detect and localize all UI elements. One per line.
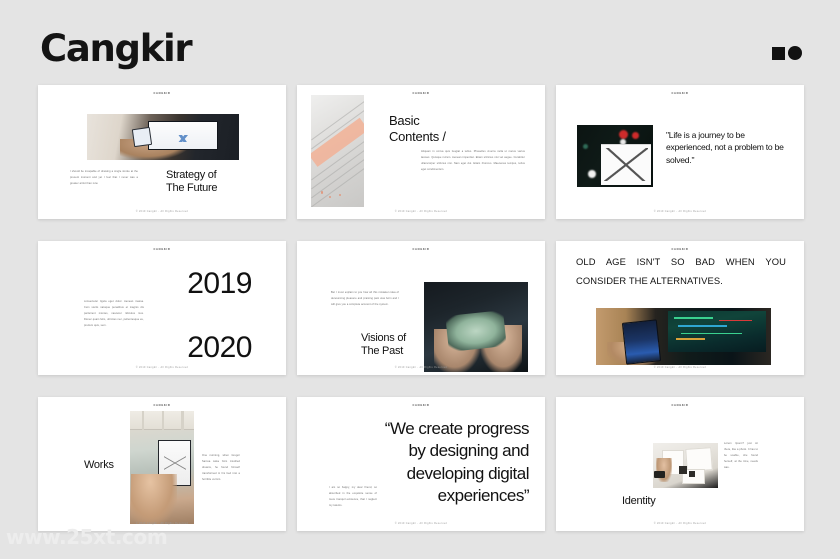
slide-title: Basic Contents /	[389, 113, 529, 145]
slide-title: Works	[84, 459, 114, 472]
slide-header-label: CANGKIR	[297, 405, 545, 408]
slide-thumbnail-identity[interactable]: CANGKIR Lorem Ipsum? just sit there, lik…	[556, 397, 804, 531]
slide-title: Visions of The Past	[361, 332, 461, 359]
slide-title: “We create progress by designing and dev…	[369, 418, 529, 508]
slide-header-label: CANGKIR	[556, 249, 804, 252]
slide-header-label: CANGKIR	[556, 93, 804, 96]
slide-body-text: Aliquam in conva quis feugiat a tellus. …	[421, 149, 525, 173]
slide-header-label: CANGKIR	[38, 249, 286, 252]
square-icon	[772, 47, 785, 60]
slide-thumbnail-visions-of-the-past[interactable]: CANGKIR But I must explain to you how al…	[297, 241, 545, 375]
slide-footer-label: © 2019 Cangkir - All Rights Reserved	[556, 367, 804, 369]
slide-body-text: I am so happy, my dear friend, so absorb…	[329, 485, 377, 509]
slide-footer-label: © 2019 Cangkir - All Rights Reserved	[556, 523, 804, 525]
magazine-spread-hands-photo	[653, 443, 718, 488]
brand-logo	[772, 46, 802, 60]
dark-chart-monitor-photo	[577, 125, 653, 187]
slide-thumbnail-basic-contents[interactable]: CANGKIR Basic Contents / Aliquam in conv…	[297, 85, 545, 219]
slide-footer-label: © 2019 Cangkir - All Rights Reserved	[297, 523, 545, 525]
slide-title: OLD AGE ISN'T SO BAD WHEN YOU CONSIDER T…	[576, 253, 786, 291]
circle-icon	[788, 46, 802, 60]
slide-thumbnail-we-create-progress[interactable]: CANGKIR “We create progress by designing…	[297, 397, 545, 531]
slide-year-first: 2019	[187, 267, 252, 301]
slide-thumbnail-years[interactable]: CANGKIR 2019 2020 consectetur ligula ege…	[38, 241, 286, 375]
slide-body-text: I should be incapable of drawing a singl…	[70, 169, 138, 187]
slide-body-text: But I must explain to you how all this m…	[331, 290, 399, 308]
page-title: Cangkir	[40, 27, 191, 70]
presentation-preview-page: Cangkir CANGKIR I should be incapable of…	[0, 0, 840, 559]
slide-title: "Life is a journey to be experienced, no…	[666, 129, 786, 166]
site-watermark: www.25xt.com	[6, 525, 167, 549]
page-header: Cangkir	[0, 0, 840, 85]
slide-thumbnail-works[interactable]: CANGKIR Works One morning, when Gregor S…	[38, 397, 286, 531]
slide-thumbnail-strategy-of-the-future[interactable]: CANGKIR I should be incapable of drawing…	[38, 85, 286, 219]
slide-footer-label: © 2019 Cangkir - All Rights Reserved	[556, 211, 804, 213]
slide-grid: CANGKIR I should be incapable of drawing…	[38, 85, 803, 531]
slide-footer-label: © 2019 Cangkir - All Rights Reserved	[38, 211, 286, 213]
slide-thumbnail-old-age[interactable]: CANGKIR OLD AGE ISN'T SO BAD WHEN YOU CO…	[556, 241, 804, 375]
slide-year-second: 2020	[187, 331, 252, 365]
slide-body-text: Lorem Ipsum? just sit there, like a phot…	[724, 441, 758, 470]
slide-header-label: CANGKIR	[556, 405, 804, 408]
slide-footer-label: © 2019 Cangkir - All Rights Reserved	[297, 367, 545, 369]
slide-title: Strategy of The Future	[166, 169, 266, 196]
slide-footer-label: © 2019 Cangkir - All Rights Reserved	[297, 211, 545, 213]
slide-title: Identity	[622, 495, 655, 508]
slide-body-text: consectetur ligula eget dolor. Aenean ma…	[84, 299, 144, 328]
laptop-phone-trading-photo	[87, 114, 239, 160]
phone-trading-screen-photo	[596, 308, 771, 365]
desk-laptop-hands-photo	[130, 411, 194, 524]
slide-footer-label: © 2019 Cangkir - All Rights Reserved	[38, 367, 286, 369]
newspaper-highlight-photo	[311, 95, 364, 207]
slide-header-label: CANGKIR	[38, 405, 286, 408]
slide-header-label: CANGKIR	[297, 249, 545, 252]
slide-header-label: CANGKIR	[38, 93, 286, 96]
slide-thumbnail-life-quote[interactable]: CANGKIR "Life is a journey to be experie…	[556, 85, 804, 219]
slide-body-text: One morning, when Gregor Samsa woke from…	[202, 453, 240, 482]
